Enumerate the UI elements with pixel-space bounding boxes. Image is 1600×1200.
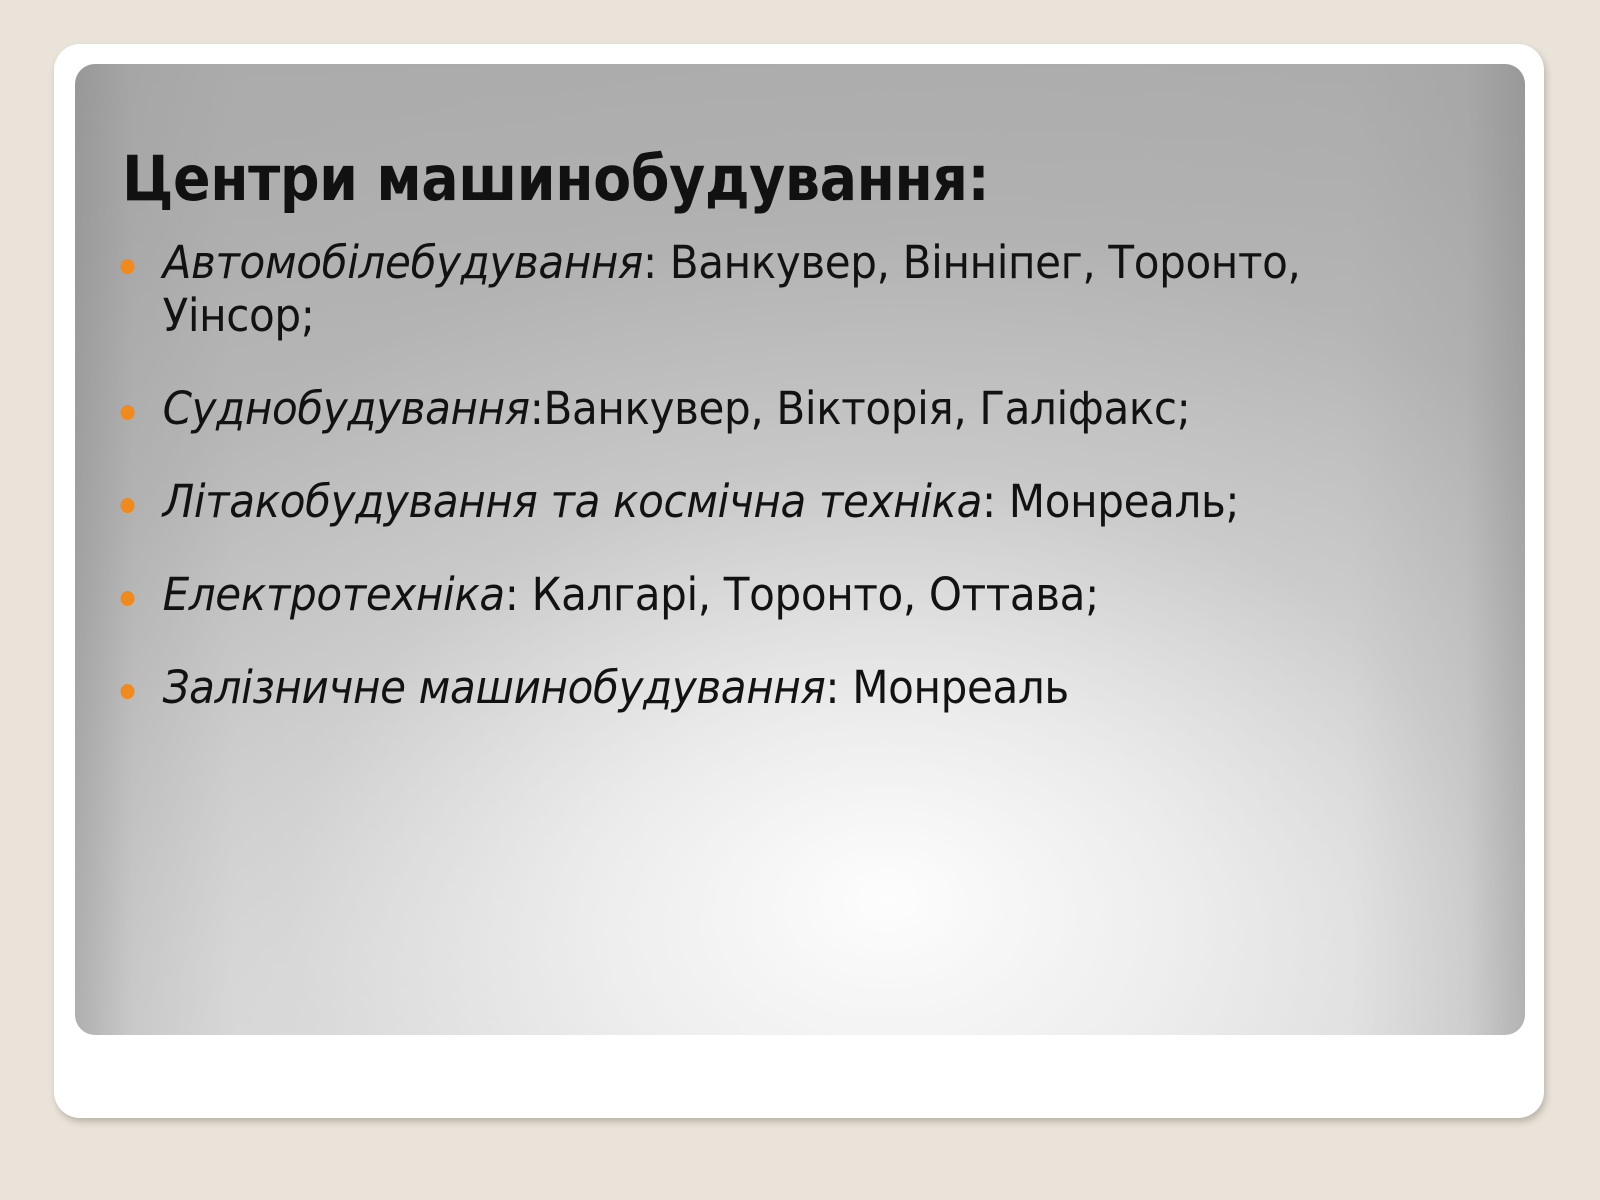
slide-card: Центри машинобудування: Автомобілебудува… (54, 44, 1544, 1118)
list-item: Залізничне машинобудування: Монреаль (99, 661, 1408, 714)
slide-content-panel: Центри машинобудування: Автомобілебудува… (75, 64, 1525, 1035)
list-item-text: Залізничне машинобудування: Монреаль (163, 661, 1408, 714)
bullet-dot-icon (121, 405, 135, 420)
list-item-text: Суднобудування:Ванкувер, Вікторія, Галіф… (163, 382, 1408, 435)
list-item-term: Електротехніка (163, 568, 505, 621)
slide-stage: Центри машинобудування: Автомобілебудува… (0, 0, 1600, 1200)
bullet-dot-icon (121, 591, 135, 606)
slide-content-inner: Центри машинобудування: Автомобілебудува… (75, 64, 1525, 1035)
list-item-text: Електротехніка: Калгарі, Торонто, Оттава… (163, 568, 1408, 621)
list-item: Літакобудування та космічна техніка: Мон… (99, 475, 1408, 528)
bullet-dot-icon (121, 684, 135, 699)
list-item-term: Літакобудування та космічна техніка (163, 475, 982, 528)
list-item-term: Суднобудування (163, 382, 530, 435)
list-item-detail: : Монреаль (825, 661, 1068, 714)
list-item-term: Автомобілебудування (163, 236, 643, 289)
list-item: Автомобілебудування: Ванкувер, Вінніпег,… (99, 236, 1408, 342)
bullet-list: Автомобілебудування: Ванкувер, Вінніпег,… (99, 236, 1499, 714)
list-item-detail: : Калгарі, Торонто, Оттава; (505, 568, 1099, 621)
list-item: Суднобудування:Ванкувер, Вікторія, Галіф… (99, 382, 1408, 435)
list-item-detail: : Монреаль; (982, 475, 1239, 528)
list-item-detail: :Ванкувер, Вікторія, Галіфакс; (530, 382, 1191, 435)
list-item: Електротехніка: Калгарі, Торонто, Оттава… (99, 568, 1408, 621)
list-item-term: Залізничне машинобудування (163, 661, 826, 714)
bullet-dot-icon (121, 498, 135, 513)
page-title: Центри машинобудування: (122, 144, 1321, 214)
list-item-text: Літакобудування та космічна техніка: Мон… (163, 475, 1408, 528)
bullet-dot-icon (121, 259, 135, 274)
list-item-text: Автомобілебудування: Ванкувер, Вінніпег,… (163, 236, 1408, 342)
